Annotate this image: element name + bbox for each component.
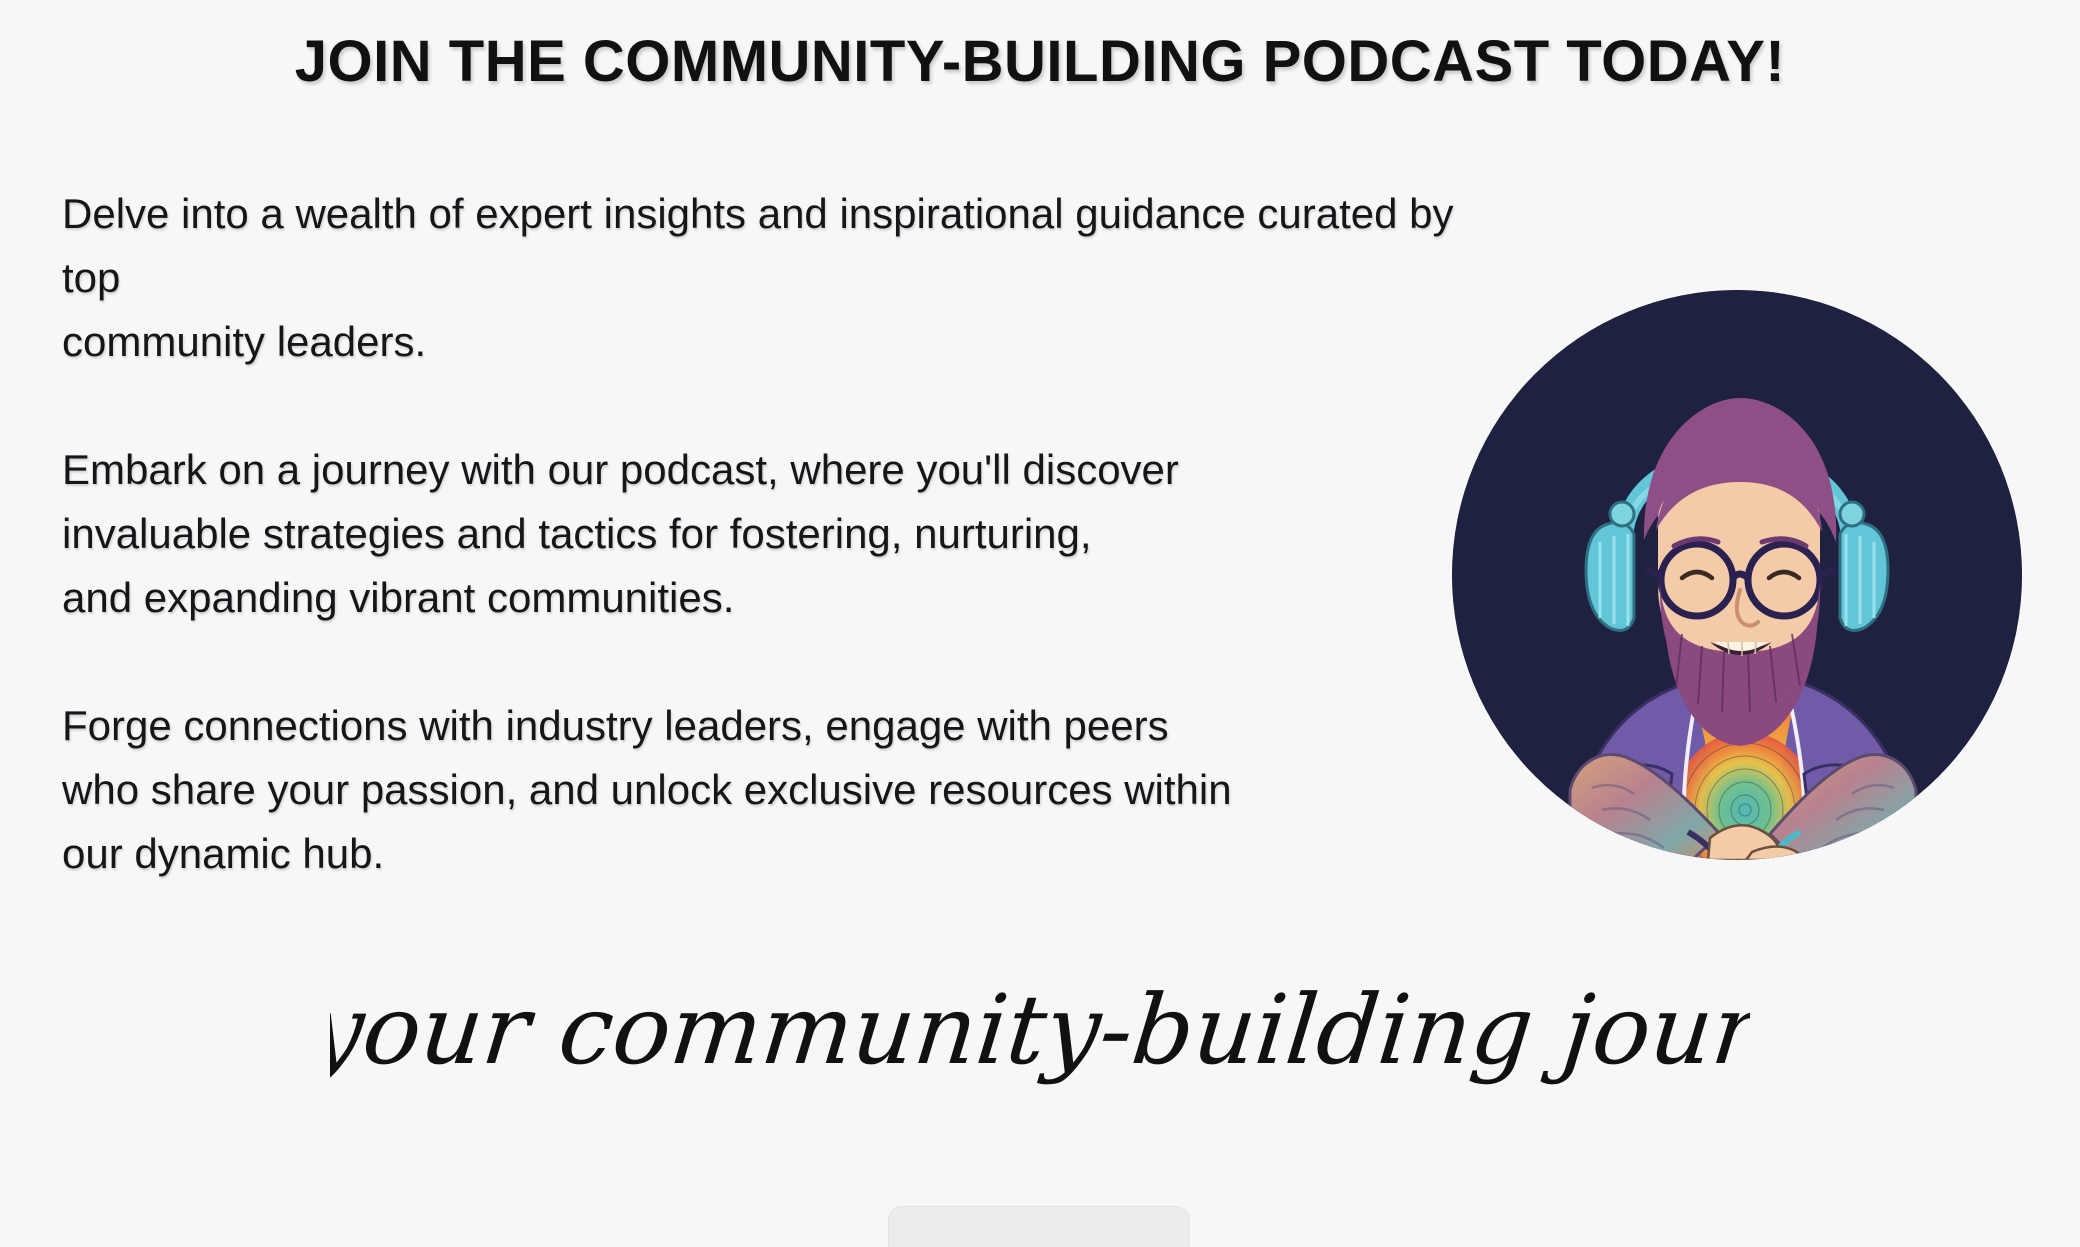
paragraph-3: Forge connections with industry leaders,… — [62, 694, 1492, 886]
promo-slide: JOIN THE COMMUNITY-BUILDING PODCAST TODA… — [0, 0, 2080, 1226]
podcast-host-portrait — [1452, 290, 2022, 860]
tagline-svg: Elevate your community-building journey … — [330, 955, 1750, 1105]
tagline-script: Elevate your community-building journey … — [0, 955, 2080, 1105]
page-title: JOIN THE COMMUNITY-BUILDING PODCAST TODA… — [0, 28, 2080, 95]
portrait-illustration — [1452, 290, 2022, 860]
bottom-partial-chip[interactable] — [888, 1206, 1190, 1247]
paragraph-1: Delve into a wealth of expert insights a… — [62, 182, 1492, 374]
paragraph-2: Embark on a journey with our podcast, wh… — [62, 438, 1492, 630]
body-copy-block: Delve into a wealth of expert insights a… — [62, 182, 1492, 886]
tagline-text: Elevate your community-building journey … — [330, 974, 1750, 1086]
